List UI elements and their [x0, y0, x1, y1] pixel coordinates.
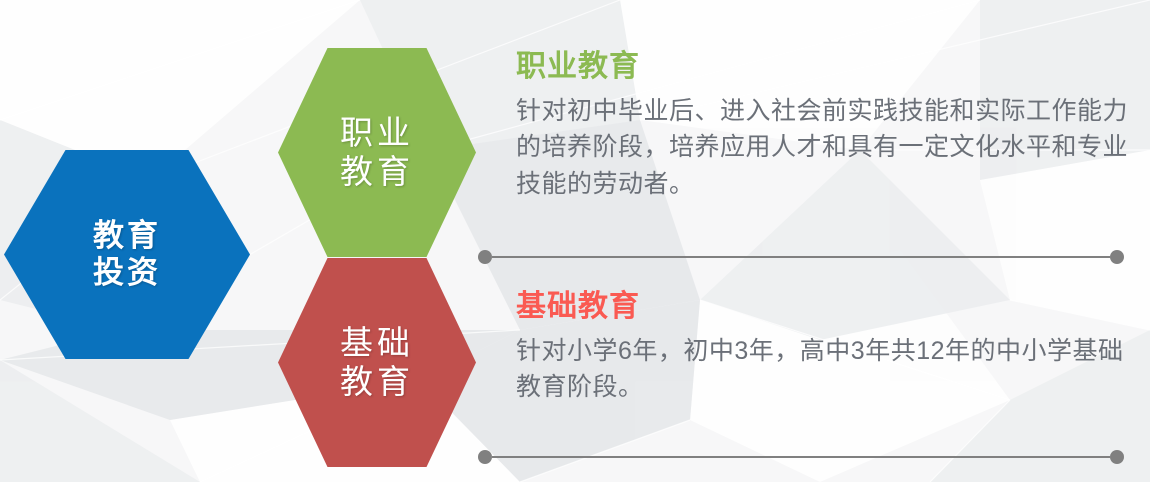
block-title-basic: 基础教育 [516, 290, 1128, 323]
block-body-basic: 针对小学6年，初中3年，高中3年共12年的中小学基础教育阶段。 [516, 333, 1128, 406]
hexagon-main-line-2: 投资 [93, 255, 161, 292]
rail-dot-right-icon [1110, 250, 1124, 264]
rail-dot-left-icon [478, 450, 492, 464]
rail-line [492, 456, 1110, 458]
block-title-vocational: 职业教育 [516, 50, 1128, 83]
rail-dot-left-icon [478, 250, 492, 264]
rail-line [492, 256, 1110, 258]
rail-dot-right-icon [1110, 450, 1124, 464]
hexagon-basic-line-1: 基础 [340, 324, 414, 363]
infographic-canvas: 教育 投资 职业 教育 基础 教育 职业教育 针对初中毕业后、进入社会前实践技能… [0, 0, 1150, 482]
connector-rail-vocational [478, 250, 1124, 264]
block-body-vocational: 针对初中毕业后、进入社会前实践技能和实际工作能力的培养阶段，培养应用人才和具有一… [516, 93, 1128, 202]
hexagon-main-line-1: 教育 [93, 218, 161, 255]
connector-rail-basic [478, 450, 1124, 464]
hexagon-basic-line-2: 教育 [340, 363, 414, 402]
text-block-vocational: 职业教育 针对初中毕业后、进入社会前实践技能和实际工作能力的培养阶段，培养应用人… [516, 50, 1128, 202]
text-block-basic: 基础教育 针对小学6年，初中3年，高中3年共12年的中小学基础教育阶段。 [516, 290, 1128, 406]
hexagon-vocational-line-1: 职业 [340, 114, 414, 153]
hexagon-vocational-line-2: 教育 [340, 153, 414, 192]
